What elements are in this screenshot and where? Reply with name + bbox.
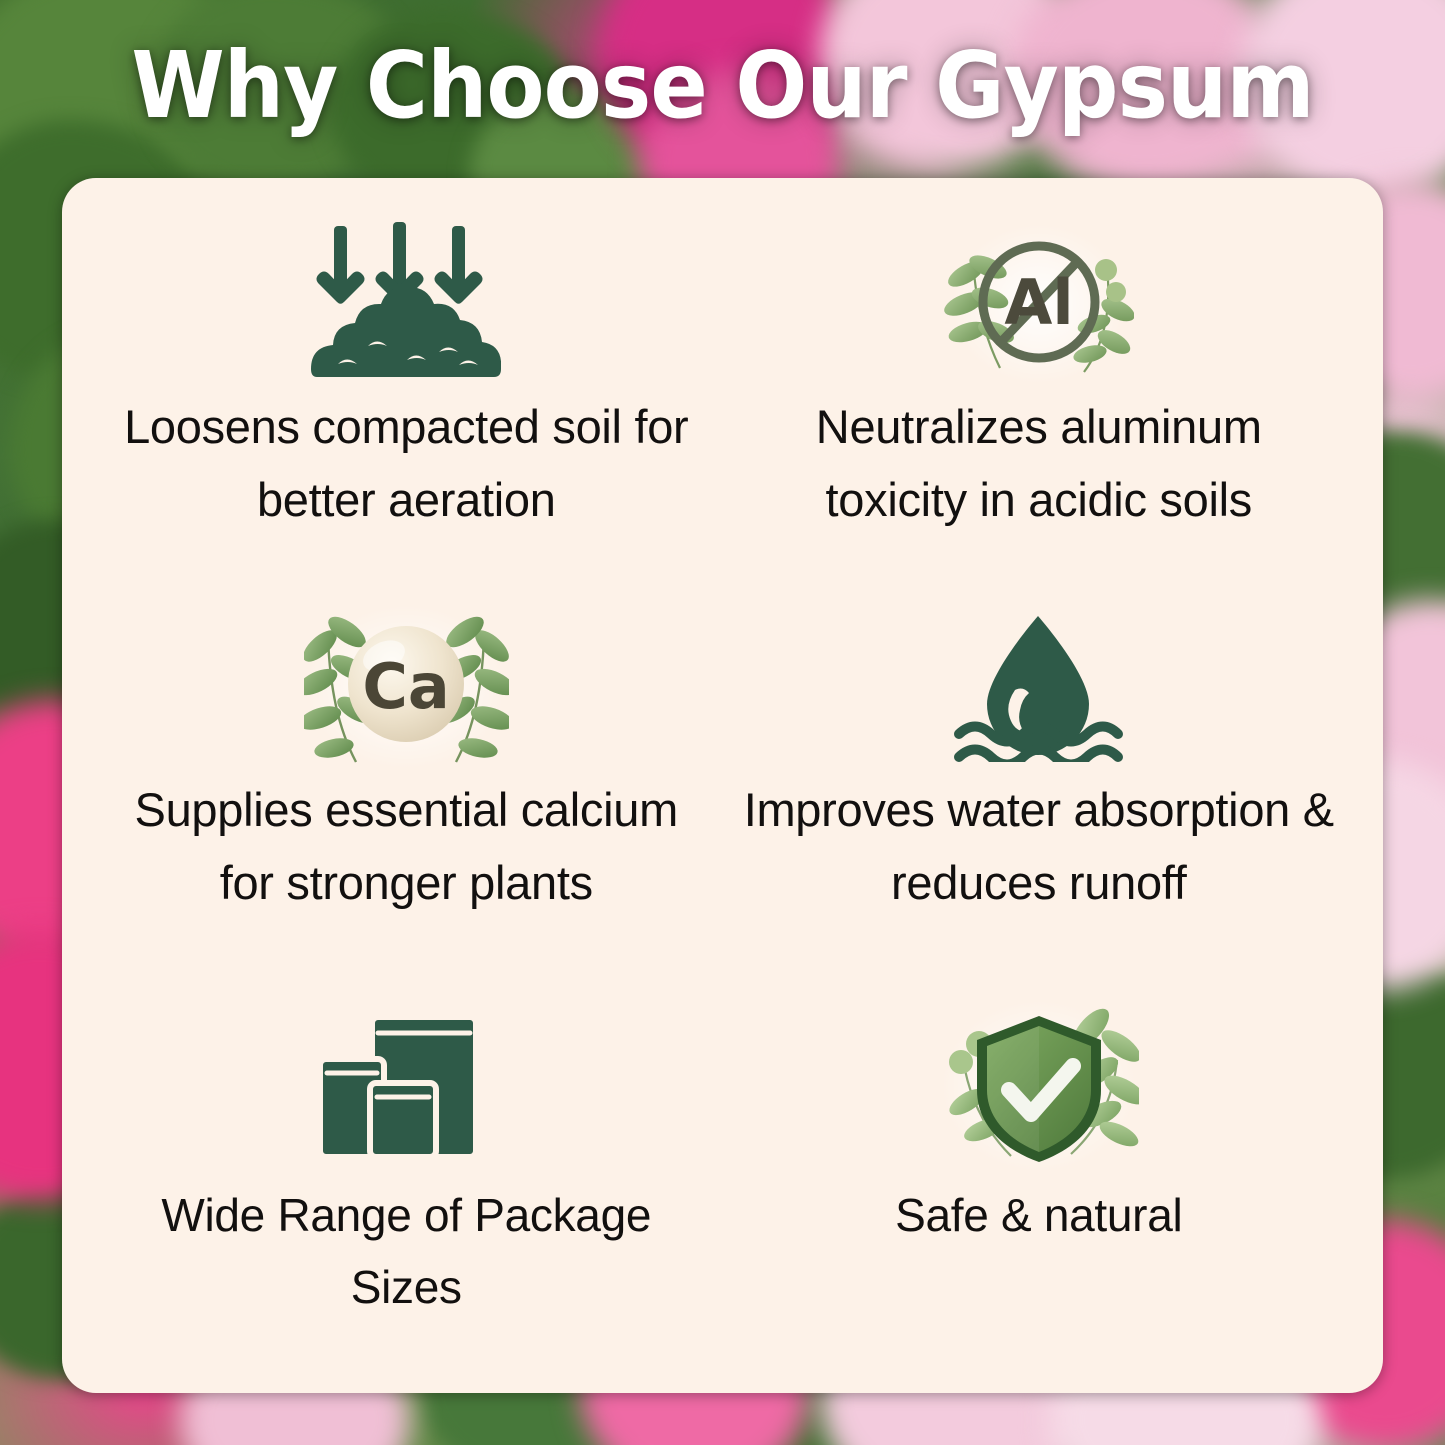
icon-container: Al — [944, 218, 1134, 390]
calcium-symbol: Ca — [362, 650, 449, 723]
feature-label: Loosens compacted soil for better aerati… — [96, 390, 716, 537]
package-sizes-icon — [316, 1007, 496, 1167]
no-aluminum-icon: Al — [944, 222, 1134, 387]
icon-container: Ca — [304, 601, 509, 773]
icon-container — [316, 994, 496, 1180]
feature-label: Improves water absorption & reduces runo… — [723, 773, 1356, 920]
icon-container — [311, 218, 501, 390]
features-grid: Loosens compacted soil for better aerati… — [90, 204, 1355, 1371]
feature-item: Wide Range of Package Sizes — [90, 982, 723, 1371]
feature-item: Loosens compacted soil for better aerati… — [90, 204, 723, 593]
page-title: Why Choose Our Gypsum — [58, 38, 1387, 135]
feature-label: Safe & natural — [879, 1180, 1198, 1252]
calcium-icon: Ca — [304, 602, 509, 772]
feature-item: Safe & natural — [723, 982, 1356, 1371]
feature-label: Wide Range of Package Sizes — [96, 1180, 716, 1324]
soil-arrows-icon — [311, 222, 501, 387]
water-drop-icon — [951, 612, 1126, 762]
aluminum-symbol: Al — [1004, 266, 1073, 339]
feature-item: Al Neutralizes aluminum toxicity in acid… — [723, 204, 1356, 593]
icon-container — [951, 601, 1126, 773]
feature-label: Neutralizes aluminum toxicity in acidic … — [729, 390, 1349, 537]
features-panel: Loosens compacted soil for better aerati… — [62, 178, 1383, 1393]
icon-container — [939, 994, 1139, 1180]
infographic-stage: Why Choose Our Gypsum — [0, 0, 1445, 1445]
feature-label: Supplies essential calcium for stronger … — [90, 773, 723, 920]
feature-item: Improves water absorption & reduces runo… — [723, 593, 1356, 982]
feature-item: Ca Supplies essential calcium for strong… — [90, 593, 723, 982]
shield-check-icon — [939, 998, 1139, 1176]
